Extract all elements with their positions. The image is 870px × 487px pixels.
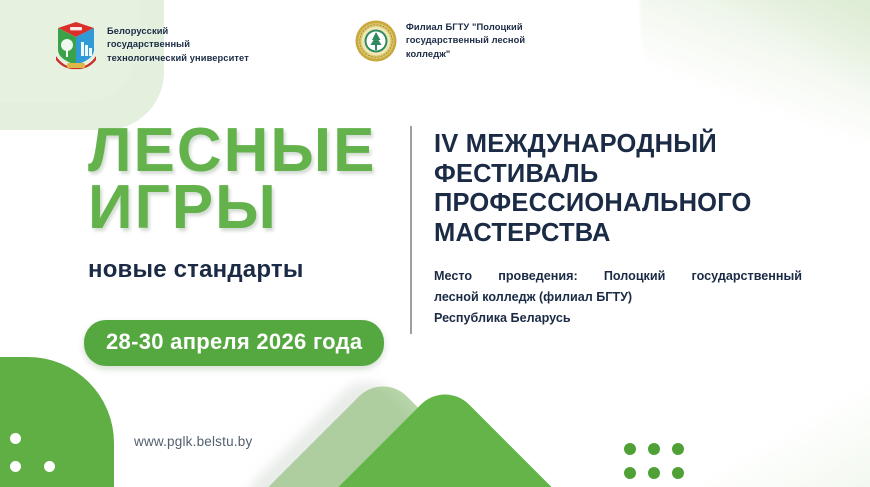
festival-title-line-4: МАСТЕРСТВА [434, 219, 834, 249]
green-dot [624, 467, 636, 479]
top-right-green-gradient-blob [640, 0, 870, 150]
festival-title-line-1: IV МЕЖДУНАРОДНЫЙ [434, 130, 834, 160]
green-dot [624, 443, 636, 455]
bottom-center-diamond-back [244, 372, 521, 487]
left-column: ЛЕСНЫЕ ИГРЫ новые стандарты [88, 122, 398, 284]
green-dot [672, 443, 684, 455]
green-dot [648, 443, 660, 455]
festival-title-line-2: ФЕСТИВАЛЬ [434, 160, 834, 190]
bottom-right-green-gradient-corner [700, 357, 870, 487]
poster-canvas: Белорусский государственный технологичес… [0, 0, 870, 487]
logo-bstu-label: Белорусский государственный технологичес… [107, 25, 249, 65]
white-dot [10, 433, 21, 444]
venue-line-3: Республика Беларусь [434, 308, 802, 329]
event-tagline: новые стандарты [88, 256, 398, 284]
event-date-badge: 28-30 апреля 2026 года [84, 320, 384, 366]
green-dot [648, 467, 660, 479]
white-dot [10, 461, 21, 472]
event-title-line-2: ИГРЫ [88, 179, 398, 236]
venue-line-1: Место проведения: Полоцкий государственн… [434, 266, 802, 287]
pglk-round-emblem-logo-icon [355, 20, 397, 62]
white-dot [44, 461, 55, 472]
top-right-green-gradient-blob-accent [670, 0, 870, 90]
bottom-right-dot-grid [624, 443, 684, 479]
logo-bstu: Белорусский государственный технологичес… [54, 20, 249, 70]
venue-block: Место проведения: Полоцкий государственн… [434, 266, 802, 328]
bottom-center-diamond-shadow [233, 368, 502, 487]
bottom-left-green-block [0, 357, 114, 487]
festival-title-line-3: ПРОФЕССИОНАЛЬНОГО [434, 189, 834, 219]
website-url-link[interactable]: www.pglk.belstu.by [134, 434, 252, 449]
green-dot [672, 467, 684, 479]
event-title-line-1: ЛЕСНЫЕ [88, 122, 398, 179]
header-logos: Белорусский государственный технологичес… [54, 20, 525, 70]
right-column: IV МЕЖДУНАРОДНЫЙ ФЕСТИВАЛЬ ПРОФЕССИОНАЛЬ… [434, 130, 834, 329]
logo-pglk: Филиал БГТУ "Полоцкий государственный ле… [355, 20, 525, 62]
logo-pglk-label: Филиал БГТУ "Полоцкий государственный ле… [406, 21, 525, 61]
venue-line-2: лесной колледж (филиал БГТУ) [434, 287, 802, 308]
bottom-center-diamond-front [313, 380, 576, 487]
bstu-shield-logo-icon [54, 20, 98, 70]
column-divider [410, 126, 412, 334]
